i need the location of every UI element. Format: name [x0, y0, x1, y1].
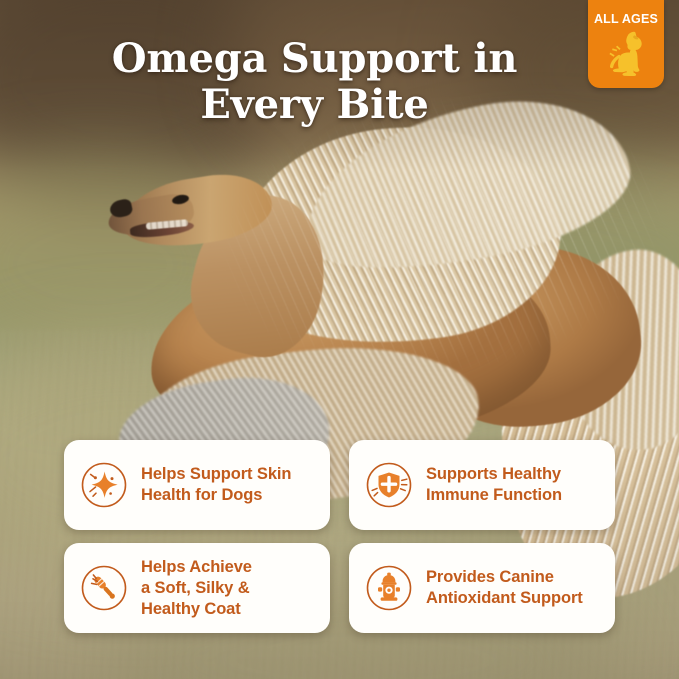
feature-card-line: a Soft, Silky & [141, 578, 252, 599]
feature-card-line: Immune Function [426, 485, 562, 506]
feature-card-line: Supports Healthy [426, 464, 562, 485]
feature-card-antioxidant-support[interactable]: Provides Canine Antioxidant Support [349, 543, 615, 633]
headline: Omega Support in Every Bite [0, 36, 679, 127]
feature-card-grid: Helps Support Skin Health for Dogs Suppo… [64, 440, 615, 633]
feature-card-label: Helps Achieve a Soft, Silky & Healthy Co… [141, 557, 252, 619]
feature-card-line: Health for Dogs [141, 485, 291, 506]
grooming-brush-icon [80, 564, 128, 612]
headline-line-2: Every Bite [40, 82, 589, 128]
shield-plus-icon [365, 461, 413, 509]
headline-line-1: Omega Support in [112, 35, 518, 82]
feature-card-line: Helps Achieve [141, 557, 252, 578]
feature-card-line: Antioxidant Support [426, 588, 583, 609]
feature-card-healthy-coat[interactable]: Helps Achieve a Soft, Silky & Healthy Co… [64, 543, 330, 633]
feature-card-line: Helps Support Skin [141, 464, 291, 485]
fire-hydrant-icon [365, 564, 413, 612]
sparkle-icon [80, 461, 128, 509]
feature-card-label: Provides Canine Antioxidant Support [426, 567, 583, 609]
feature-card-label: Supports Healthy Immune Function [426, 464, 562, 506]
product-infographic: ALL AGES [0, 0, 679, 679]
feature-card-line: Healthy Coat [141, 599, 252, 620]
feature-card-line: Provides Canine [426, 567, 583, 588]
feature-card-label: Helps Support Skin Health for Dogs [141, 464, 291, 506]
feature-card-skin-health[interactable]: Helps Support Skin Health for Dogs [64, 440, 330, 530]
feature-card-immune-function[interactable]: Supports Healthy Immune Function [349, 440, 615, 530]
all-ages-badge-label: ALL AGES [594, 13, 658, 26]
